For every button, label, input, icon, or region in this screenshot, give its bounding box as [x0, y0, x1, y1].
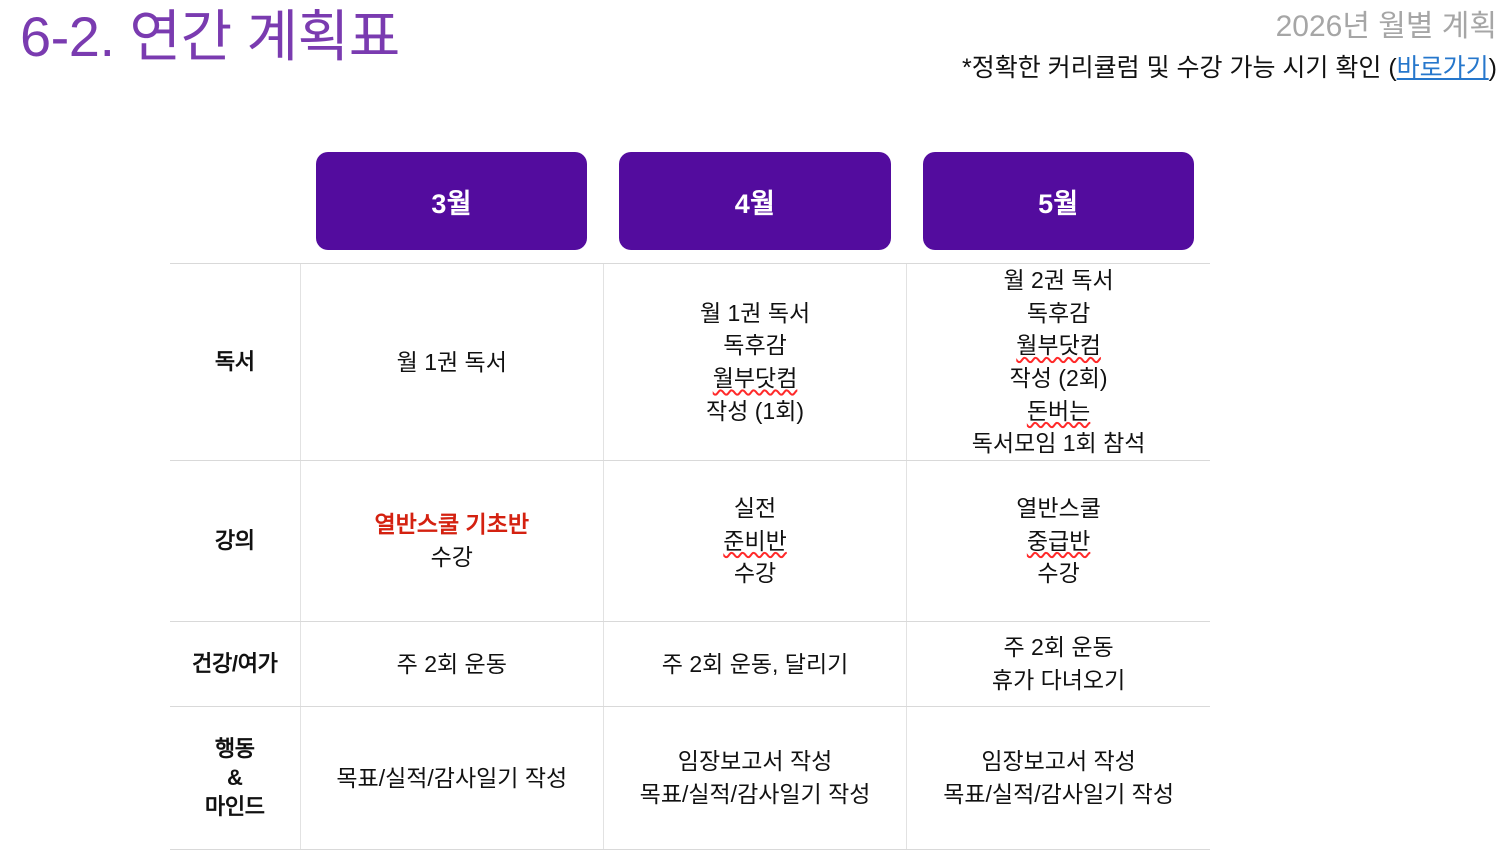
cell-line: 목표/실적/감사일기 작성	[610, 778, 900, 811]
cell-reading-march: 월 1권 독서	[300, 264, 603, 461]
cell-lecture-march: 열반스쿨 기초반 수강	[300, 460, 603, 621]
cell-line: 독후감 월부닷컴 작성 (2회)	[913, 297, 1204, 395]
row-label-reading: 독서	[170, 264, 300, 461]
cell-line: 임장보고서 작성	[610, 745, 900, 778]
year-subtitle: 2026년 월별 계획	[817, 8, 1497, 46]
spellcheck-word: 준비반	[610, 525, 900, 558]
cell-health-may: 주 2회 운동 휴가 다녀오기	[907, 621, 1210, 706]
cell-line: 독후감 월부닷컴 작성 (1회)	[610, 329, 900, 427]
month-header-row: 3월 4월 5월	[170, 152, 1210, 250]
row-label-line: 행동	[176, 734, 294, 763]
curriculum-note-prefix: *정확한 커리큘럼 및 수강 가능 시기 확인 (	[962, 54, 1397, 82]
table-row-health: 건강/여가 주 2회 운동 주 2회 운동, 달리기 주 2회 운동 휴가 다녀…	[170, 621, 1210, 706]
spellcheck-word: 월부닷컴	[610, 362, 900, 395]
header-right-block: 2026년 월별 계획 *정확한 커리큘럼 및 수강 가능 시기 확인 (바로가…	[817, 8, 1497, 84]
page-title: 6-2. 연간 계획표	[20, 5, 400, 69]
cell-action-may: 임장보고서 작성 목표/실적/감사일기 작성	[907, 706, 1210, 849]
cell-line: 수강	[307, 541, 597, 574]
cell-reading-may: 월 2권 독서 독후감 월부닷컴 작성 (2회) 돈버는 독서모임 1회 참석	[907, 264, 1210, 461]
cell-line: 실전 준비반	[610, 492, 900, 557]
row-label-line: 마인드	[176, 792, 294, 821]
table-row-lecture: 강의 열반스쿨 기초반 수강 실전 준비반 수강 열반스쿨 중급반 수강	[170, 460, 1210, 621]
month-chip-april[interactable]: 4월	[619, 152, 890, 250]
cell-line: 휴가 다녀오기	[913, 664, 1204, 697]
cell-lecture-april: 실전 준비반 수강	[603, 460, 906, 621]
month-chip-march[interactable]: 3월	[316, 152, 587, 250]
cell-line: 수강	[610, 557, 900, 590]
cell-line-highlight: 열반스쿨 기초반	[307, 508, 597, 541]
month-chip-may[interactable]: 5월	[923, 152, 1194, 250]
table-row-action: 행동 & 마인드 목표/실적/감사일기 작성 임장보고서 작성 목표/실적/감사…	[170, 706, 1210, 849]
month-header-spacer	[170, 152, 300, 250]
table-row-reading: 독서 월 1권 독서 월 1권 독서 독후감 월부닷컴 작성 (1회) 월 2권…	[170, 264, 1210, 461]
cell-action-march: 목표/실적/감사일기 작성	[300, 706, 603, 849]
cell-line: 열반스쿨 중급반	[913, 492, 1204, 557]
curriculum-note: *정확한 커리큘럼 및 수강 가능 시기 확인 (바로가기)	[817, 53, 1497, 84]
cell-line: 주 2회 운동	[913, 631, 1204, 664]
cell-line: 월 2권 독서	[913, 264, 1204, 297]
cell-line: 임장보고서 작성	[913, 745, 1204, 778]
row-label-line: &	[176, 763, 294, 792]
cell-line: 목표/실적/감사일기 작성	[307, 762, 597, 795]
cell-line: 목표/실적/감사일기 작성	[913, 778, 1204, 811]
cell-action-april: 임장보고서 작성 목표/실적/감사일기 작성	[603, 706, 906, 849]
curriculum-note-suffix: )	[1489, 54, 1497, 82]
cell-health-april: 주 2회 운동, 달리기	[603, 621, 906, 706]
cell-line: 월 1권 독서	[610, 297, 900, 330]
spellcheck-word: 중급반	[913, 525, 1204, 558]
cell-lecture-may: 열반스쿨 중급반 수강	[907, 460, 1210, 621]
cell-line: 수강	[913, 557, 1204, 590]
cell-health-march: 주 2회 운동	[300, 621, 603, 706]
cell-line: 주 2회 운동, 달리기	[610, 648, 900, 681]
cell-reading-april: 월 1권 독서 독후감 월부닷컴 작성 (1회)	[603, 264, 906, 461]
spellcheck-word: 월부닷컴	[913, 329, 1204, 362]
row-label-lecture: 강의	[170, 460, 300, 621]
curriculum-link[interactable]: 바로가기	[1397, 54, 1489, 82]
cell-line: 돈버는 독서모임 1회 참석	[913, 395, 1204, 460]
cell-line: 월 1권 독서	[307, 346, 597, 379]
spellcheck-word: 돈버는	[913, 395, 1204, 428]
cell-line: 주 2회 운동	[307, 648, 597, 681]
row-label-health: 건강/여가	[170, 621, 300, 706]
row-label-action: 행동 & 마인드	[170, 706, 300, 849]
annual-plan-table: 독서 월 1권 독서 월 1권 독서 독후감 월부닷컴 작성 (1회) 월 2권…	[170, 263, 1210, 850]
